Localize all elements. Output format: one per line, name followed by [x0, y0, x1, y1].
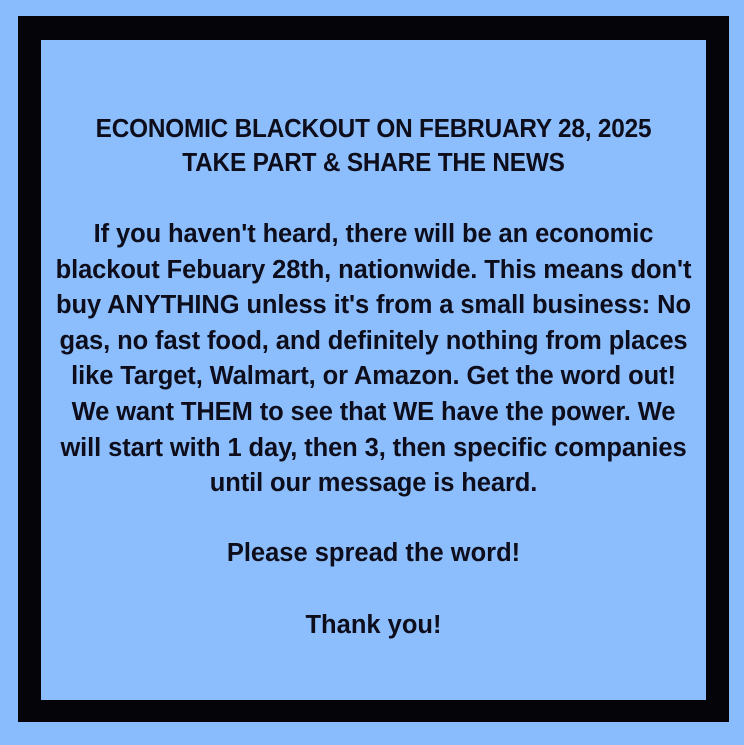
- body-line-7: will start with 1 day, then 3, then spec…: [55, 431, 692, 467]
- poster-body-text: If you haven't heard, there will be an e…: [55, 180, 692, 502]
- body-line-1: If you haven't heard, there will be an e…: [55, 217, 692, 253]
- poster-black-frame: ECONOMIC BLACKOUT ON FEBRUARY 28, 2025 T…: [18, 16, 729, 722]
- body-line-4: gas, no fast food, and definitely nothin…: [55, 324, 692, 360]
- body-line-5: like Target, Walmart, or Amazon. Get the…: [55, 359, 692, 395]
- body-line-2: blackout Febuary 28th, nationwide. This …: [55, 253, 692, 289]
- poster-headline: ECONOMIC BLACKOUT ON FEBRUARY 28, 2025 T…: [69, 40, 677, 180]
- headline-line-2: TAKE PART & SHARE THE NEWS: [69, 146, 677, 180]
- poster-inner-card: ECONOMIC BLACKOUT ON FEBRUARY 28, 2025 T…: [41, 40, 706, 700]
- thank-you-text: Thank you!: [55, 571, 692, 644]
- poster-content: ECONOMIC BLACKOUT ON FEBRUARY 28, 2025 T…: [41, 40, 706, 644]
- poster-closing: Please spread the word! Thank you!: [55, 502, 692, 644]
- body-line-3: buy ANYTHING unless it's from a small bu…: [55, 288, 692, 324]
- headline-line-1: ECONOMIC BLACKOUT ON FEBRUARY 28, 2025: [69, 112, 677, 146]
- poster-canvas: ECONOMIC BLACKOUT ON FEBRUARY 28, 2025 T…: [0, 0, 744, 745]
- call-to-action-text: Please spread the word!: [55, 536, 692, 572]
- body-line-6: We want THEM to see that WE have the pow…: [55, 395, 692, 431]
- body-line-8: until our message is heard.: [55, 466, 692, 502]
